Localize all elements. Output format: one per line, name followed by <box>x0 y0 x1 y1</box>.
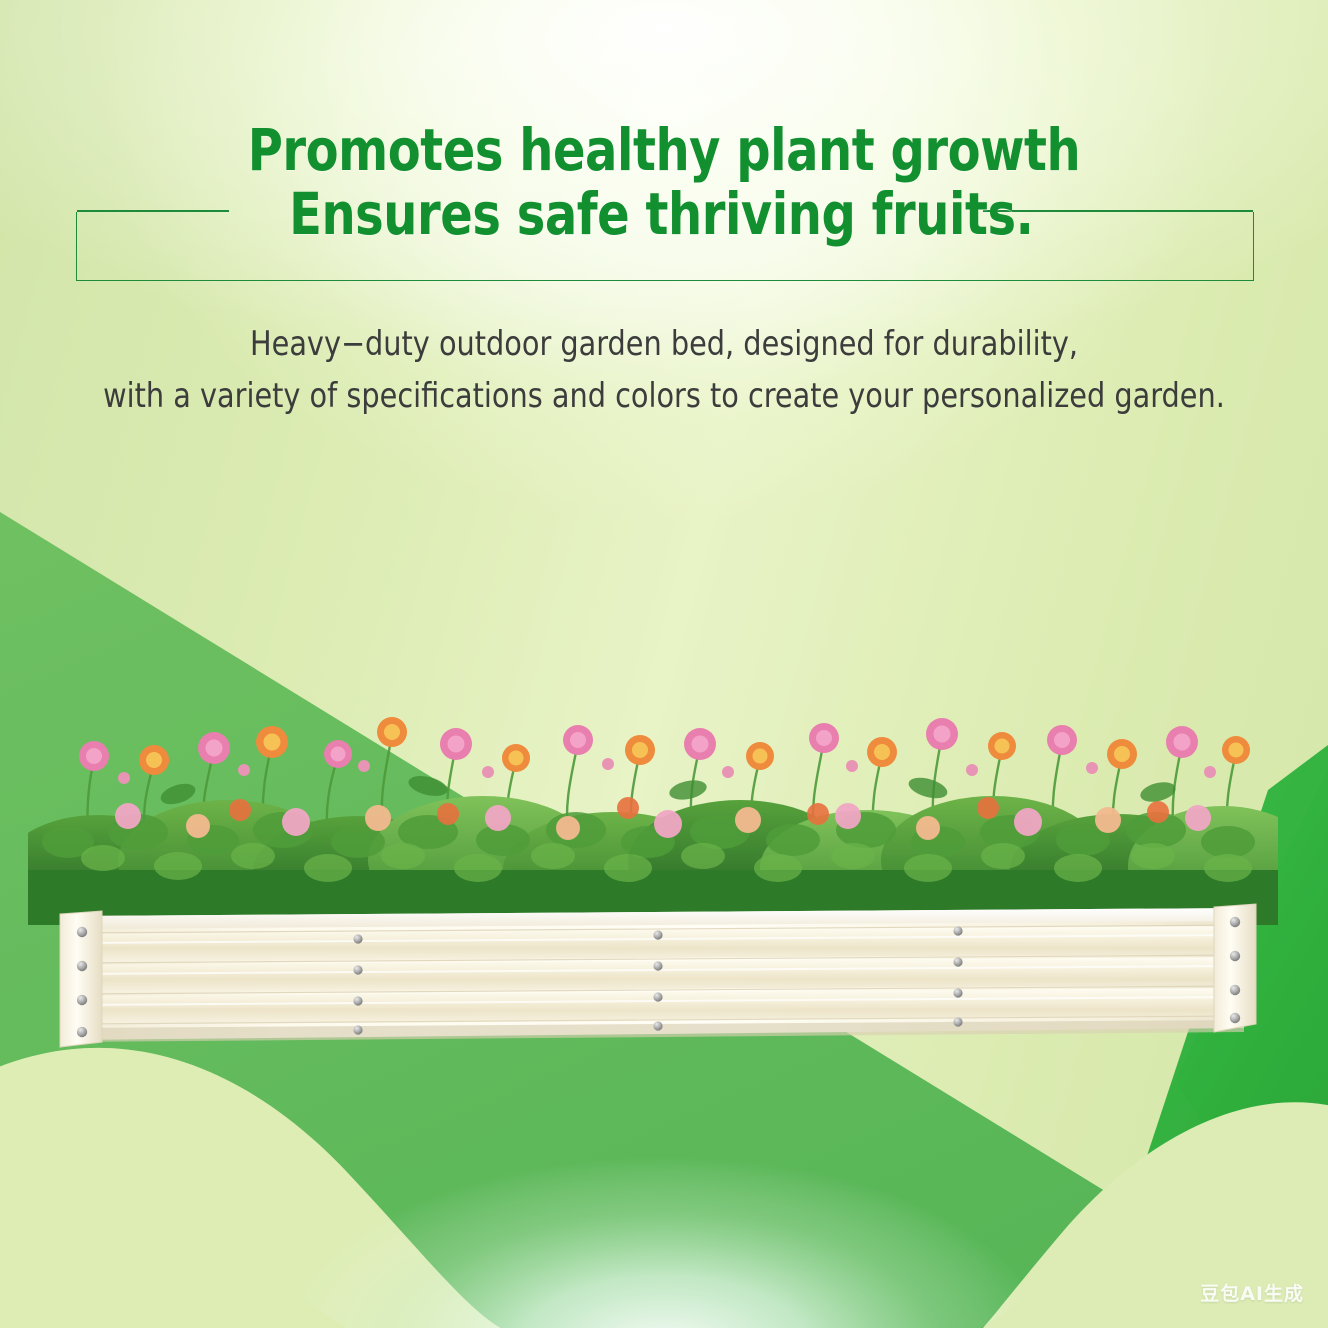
product-image <box>0 690 1328 1110</box>
description-text: Heavy−duty outdoor garden bed, designed … <box>40 318 1288 422</box>
headline-line-2: Ensures safe thriving fruits. <box>53 182 1275 246</box>
promotional-poster: Promotes healthy plant growth Ensures sa… <box>0 0 1328 1328</box>
rose-plants <box>28 690 1278 925</box>
headline-line-1: Promotes healthy plant growth <box>53 118 1275 182</box>
page-title: Promotes healthy plant growth Ensures sa… <box>53 118 1275 246</box>
description-line-2: with a variety of specifications and col… <box>40 370 1288 422</box>
description-line-1: Heavy−duty outdoor garden bed, designed … <box>40 318 1288 370</box>
ai-watermark: 豆包AI生成 <box>1200 1279 1304 1306</box>
garden-bed-panel <box>58 902 1258 1050</box>
